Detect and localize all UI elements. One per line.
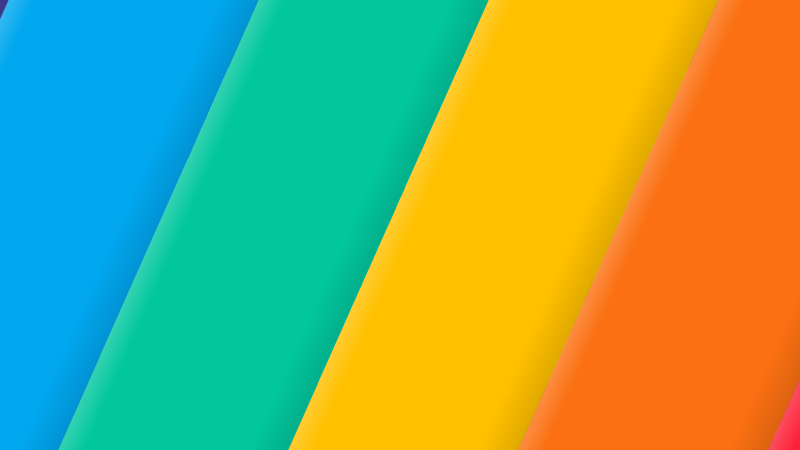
quote-image-canvas: EM QUEM TEMOS A REDENÇÃOPELO SEU SANGUE,… xyxy=(0,0,800,450)
background-stripes xyxy=(0,0,800,450)
